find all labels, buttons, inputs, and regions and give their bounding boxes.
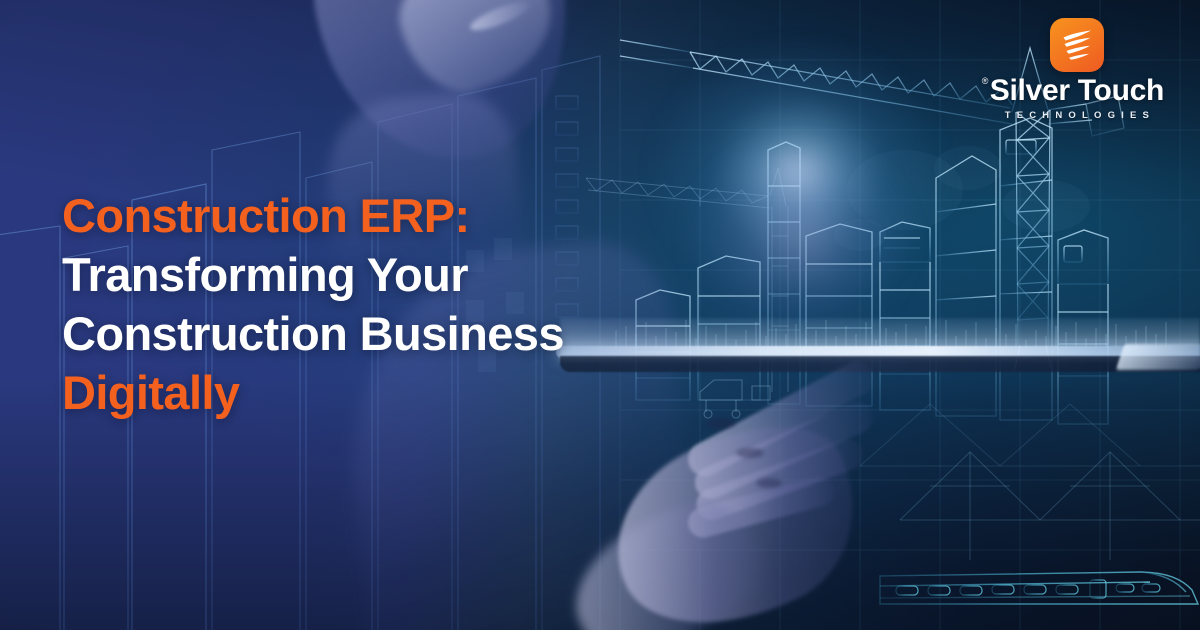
brand-logo[interactable]: ®Silver Touch TECHNOLOGIES <box>990 18 1164 121</box>
registered-mark: ® <box>982 77 988 86</box>
headline-line-2: Transforming Your <box>62 245 682 304</box>
hero-banner: ®Silver Touch TECHNOLOGIES Construction … <box>0 0 1200 630</box>
headline-line-4: Digitally <box>62 363 682 422</box>
headline-line-3: Construction Business <box>62 304 682 363</box>
headline-line-1: Construction ERP: <box>62 186 682 245</box>
headline-block: Construction ERP: Transforming Your Cons… <box>62 186 682 422</box>
silvertouch-swoosh-icon <box>1050 18 1104 72</box>
logo-name-text: Silver Touch <box>990 74 1164 107</box>
logo-wordmark: ®Silver Touch <box>990 76 1164 106</box>
logo-tagline: TECHNOLOGIES <box>1005 110 1155 121</box>
